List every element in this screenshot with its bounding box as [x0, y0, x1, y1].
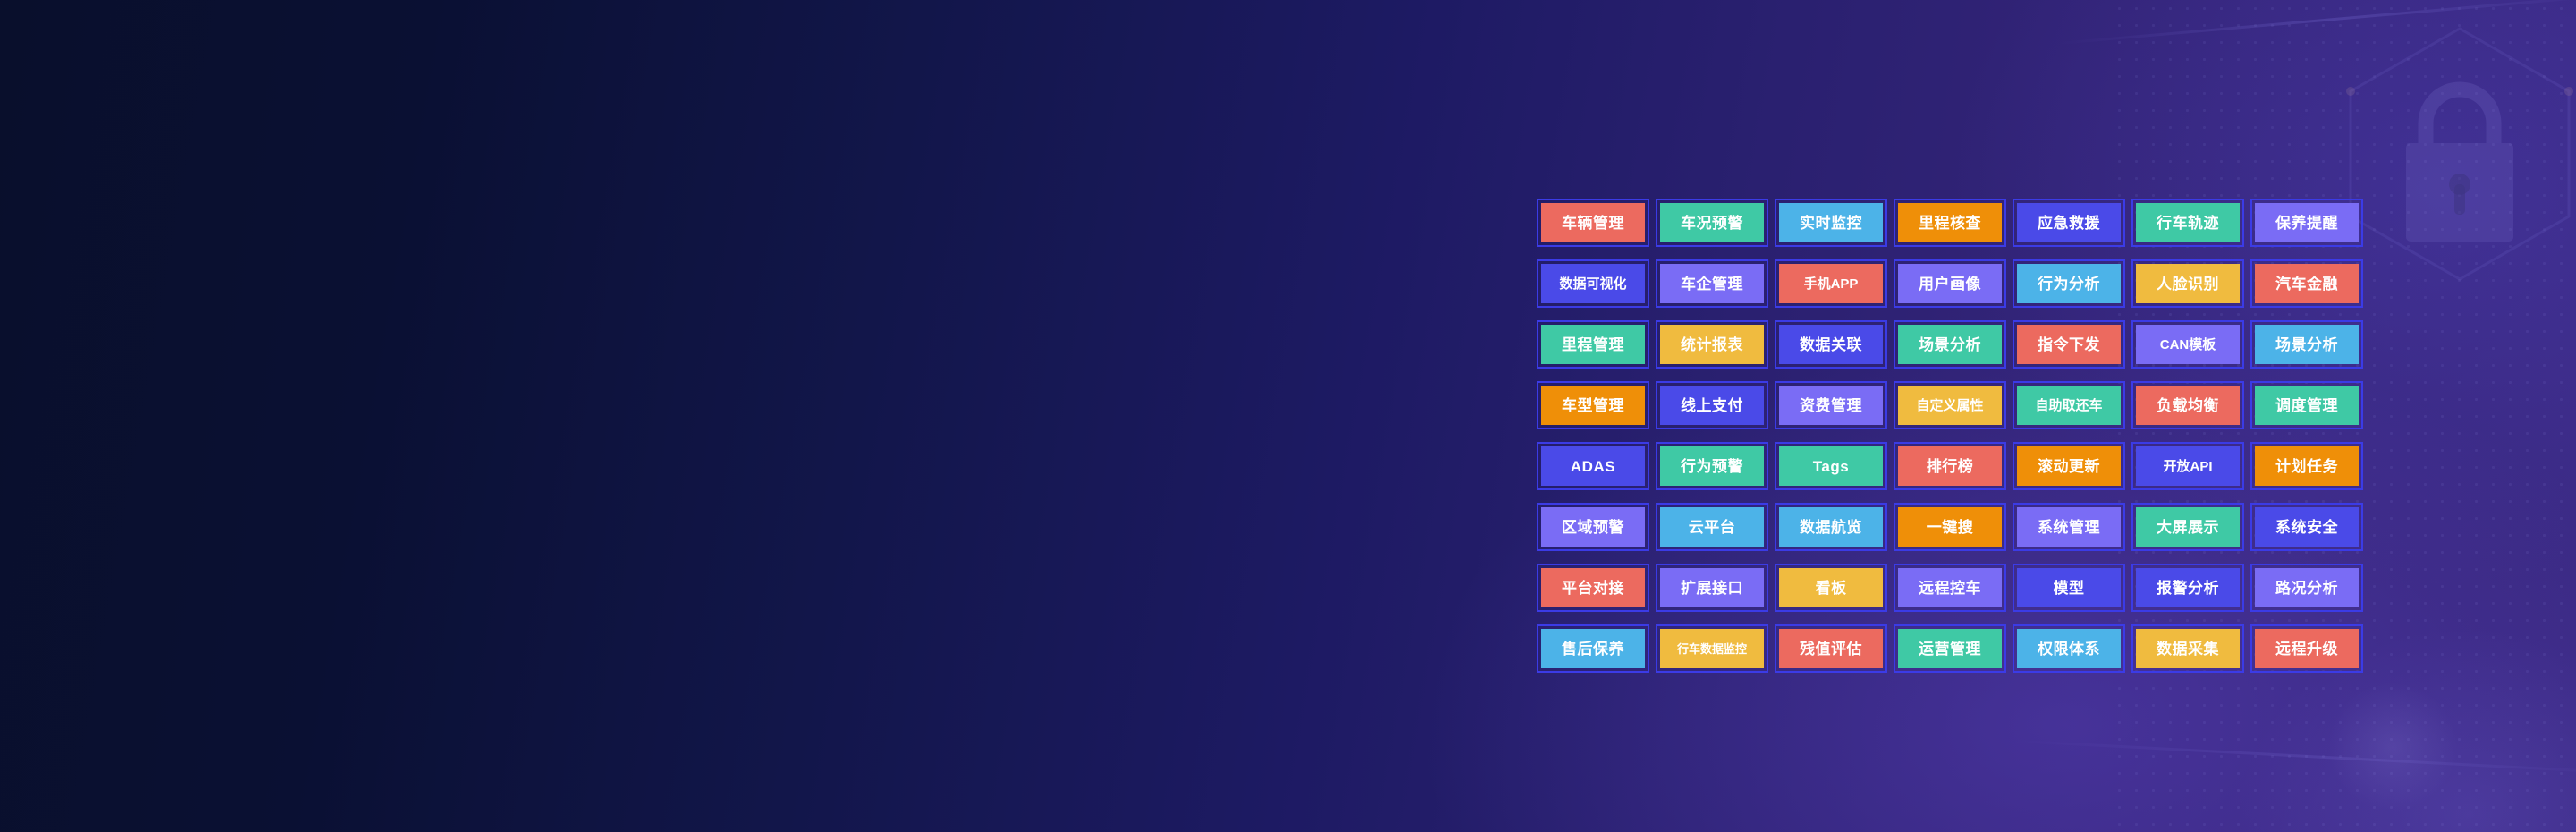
- feature-tile-fill: 一键搜: [1898, 507, 2002, 547]
- feature-tile-label: 计划任务: [2275, 459, 2338, 474]
- feature-tile-fill: 系统管理: [2017, 507, 2121, 547]
- feature-tile-label: ADAS: [1571, 459, 1615, 474]
- feature-tile-label: 行为预警: [1681, 459, 1743, 474]
- feature-tile[interactable]: 手机APP: [1775, 259, 1887, 308]
- feature-tile-label: 数据采集: [2157, 641, 2219, 657]
- feature-tile-label: 实时监控: [1800, 216, 1862, 231]
- feature-tile-label: 系统安全: [2275, 520, 2338, 535]
- feature-tile-label: 远程控车: [1919, 581, 1981, 596]
- feature-tile[interactable]: 汽车金融: [2250, 259, 2363, 308]
- feature-tile[interactable]: 系统管理: [2012, 503, 2125, 551]
- feature-tile-label: 售后保养: [1562, 641, 1624, 657]
- feature-tile-fill: 车况预警: [1660, 203, 1764, 242]
- feature-tile-label: 权限体系: [2038, 641, 2100, 657]
- feature-tile[interactable]: 自定义属性: [1894, 381, 2006, 429]
- feature-tile[interactable]: 人脸识别: [2131, 259, 2244, 308]
- feature-tile-fill: 场景分析: [2255, 325, 2359, 364]
- feature-tile[interactable]: 车企管理: [1656, 259, 1768, 308]
- feature-tile-fill: 手机APP: [1779, 264, 1883, 303]
- feature-tile-fill: 里程核查: [1898, 203, 2002, 242]
- feature-tile-label: 运营管理: [1919, 641, 1981, 657]
- feature-tile[interactable]: 保养提醒: [2250, 199, 2363, 247]
- feature-tile-fill: 开放API: [2136, 446, 2240, 486]
- feature-grid-page: 车辆管理车况预警实时监控里程核查应急救援行车轨迹保养提醒数据可视化车企管理手机A…: [0, 0, 2576, 832]
- feature-tile[interactable]: 权限体系: [2012, 624, 2125, 673]
- feature-tile-label: 数据航览: [1800, 520, 1862, 535]
- feature-tile[interactable]: 用户画像: [1894, 259, 2006, 308]
- feature-tile-label: 行车轨迹: [2157, 216, 2219, 231]
- feature-tile-label: 资费管理: [1800, 398, 1862, 413]
- feature-tile[interactable]: 路况分析: [2250, 564, 2363, 612]
- feature-tile-fill: 云平台: [1660, 507, 1764, 547]
- feature-tile-fill: 行车数据监控: [1660, 629, 1764, 668]
- feature-tile-fill: 数据航览: [1779, 507, 1883, 547]
- feature-tile[interactable]: 资费管理: [1775, 381, 1887, 429]
- feature-tile-label: 保养提醒: [2275, 216, 2338, 231]
- feature-tile-label: CAN模板: [2160, 338, 2216, 352]
- feature-tile[interactable]: 售后保养: [1537, 624, 1649, 673]
- feature-tile-fill: 汽车金融: [2255, 264, 2359, 303]
- feature-tile[interactable]: 滚动更新: [2012, 442, 2125, 490]
- feature-tile[interactable]: 区域预警: [1537, 503, 1649, 551]
- feature-tile-label: 残值评估: [1800, 641, 1862, 657]
- feature-tile-fill: 数据采集: [2136, 629, 2240, 668]
- feature-tile-label: 平台对接: [1562, 581, 1624, 596]
- feature-tile[interactable]: 负载均衡: [2131, 381, 2244, 429]
- feature-tile[interactable]: 行为预警: [1656, 442, 1768, 490]
- feature-tile[interactable]: 数据关联: [1775, 320, 1887, 369]
- feature-tile-fill: 自定义属性: [1898, 386, 2002, 425]
- feature-tile-label: 车况预警: [1681, 216, 1743, 231]
- feature-tile-label: 行为分析: [2038, 276, 2100, 292]
- feature-tile[interactable]: 线上支付: [1656, 381, 1768, 429]
- feature-tile-label: 自定义属性: [1916, 399, 1983, 412]
- feature-tile[interactable]: Tags: [1775, 442, 1887, 490]
- feature-tile-fill: Tags: [1779, 446, 1883, 486]
- feature-tile[interactable]: 云平台: [1656, 503, 1768, 551]
- feature-tile[interactable]: 车型管理: [1537, 381, 1649, 429]
- feature-tile-label: 路况分析: [2275, 581, 2338, 596]
- feature-tile-fill: 滚动更新: [2017, 446, 2121, 486]
- feature-tile[interactable]: ADAS: [1537, 442, 1649, 490]
- feature-tile-label: 应急救援: [2038, 216, 2100, 231]
- feature-tile-fill: 数据可视化: [1541, 264, 1645, 303]
- feature-tile-label: 里程管理: [1562, 337, 1624, 352]
- feature-tile[interactable]: 计划任务: [2250, 442, 2363, 490]
- feature-tile-grid: 车辆管理车况预警实时监控里程核查应急救援行车轨迹保养提醒数据可视化车企管理手机A…: [1537, 199, 2363, 673]
- feature-tile[interactable]: 数据可视化: [1537, 259, 1649, 308]
- feature-tile-fill: 系统安全: [2255, 507, 2359, 547]
- feature-tile-fill: 看板: [1779, 568, 1883, 607]
- feature-tile-label: 车辆管理: [1562, 216, 1624, 231]
- feature-tile-fill: 车企管理: [1660, 264, 1764, 303]
- feature-tile-label: 人脸识别: [2157, 276, 2219, 292]
- feature-tile-fill: 扩展接口: [1660, 568, 1764, 607]
- feature-tile-fill: 里程管理: [1541, 325, 1645, 364]
- feature-tile-label: 一键搜: [1927, 520, 1974, 535]
- feature-tile-fill: 资费管理: [1779, 386, 1883, 425]
- feature-tile-label: 系统管理: [2038, 520, 2100, 535]
- feature-tile-fill: 负载均衡: [2136, 386, 2240, 425]
- feature-tile-label: 车型管理: [1562, 398, 1624, 413]
- feature-tile-fill: 平台对接: [1541, 568, 1645, 607]
- feature-tile[interactable]: 看板: [1775, 564, 1887, 612]
- feature-tile-fill: 报警分析: [2136, 568, 2240, 607]
- feature-tile-fill: 行车轨迹: [2136, 203, 2240, 242]
- feature-tile-fill: 数据关联: [1779, 325, 1883, 364]
- feature-tile-label: 排行榜: [1927, 459, 1974, 474]
- feature-tile-label: Tags: [1813, 459, 1849, 474]
- feature-tile[interactable]: 应急救援: [2012, 199, 2125, 247]
- feature-tile-label: 报警分析: [2157, 581, 2219, 596]
- feature-tile-fill: 行为预警: [1660, 446, 1764, 486]
- feature-tile-fill: 应急救援: [2017, 203, 2121, 242]
- feature-tile-label: 线上支付: [1681, 398, 1743, 413]
- feature-tile-label: 远程升级: [2275, 641, 2338, 657]
- feature-tile-label: 模型: [2054, 581, 2085, 596]
- feature-tile-fill: 远程控车: [1898, 568, 2002, 607]
- feature-tile[interactable]: 系统安全: [2250, 503, 2363, 551]
- feature-tile-label: 统计报表: [1681, 337, 1743, 352]
- feature-tile[interactable]: 里程管理: [1537, 320, 1649, 369]
- feature-tile-fill: 场景分析: [1898, 325, 2002, 364]
- feature-tile-label: 里程核查: [1919, 216, 1981, 231]
- feature-tile-fill: 行为分析: [2017, 264, 2121, 303]
- feature-tile-fill: 线上支付: [1660, 386, 1764, 425]
- feature-tile-label: 车企管理: [1681, 276, 1743, 292]
- feature-tile[interactable]: 车况预警: [1656, 199, 1768, 247]
- feature-tile-label: 数据关联: [1800, 337, 1862, 352]
- feature-tile[interactable]: 自助取还车: [2012, 381, 2125, 429]
- feature-tile-fill: 路况分析: [2255, 568, 2359, 607]
- feature-tile-label: 滚动更新: [2038, 459, 2100, 474]
- feature-tile-label: 调度管理: [2275, 398, 2338, 413]
- feature-tile[interactable]: 统计报表: [1656, 320, 1768, 369]
- feature-tile-fill: 调度管理: [2255, 386, 2359, 425]
- feature-tile[interactable]: 残值评估: [1775, 624, 1887, 673]
- feature-tile-label: 行车数据监控: [1677, 643, 1747, 655]
- feature-tile[interactable]: 行为分析: [2012, 259, 2125, 308]
- feature-tile-label: 场景分析: [1919, 337, 1981, 352]
- feature-tile-label: 扩展接口: [1681, 581, 1743, 596]
- feature-tile[interactable]: 模型: [2012, 564, 2125, 612]
- feature-tile-fill: 运营管理: [1898, 629, 2002, 668]
- feature-tile[interactable]: 排行榜: [1894, 442, 2006, 490]
- feature-tile-label: 用户画像: [1919, 276, 1981, 292]
- feature-tile[interactable]: 运营管理: [1894, 624, 2006, 673]
- feature-tile-fill: 保养提醒: [2255, 203, 2359, 242]
- feature-tile[interactable]: 一键搜: [1894, 503, 2006, 551]
- feature-tile[interactable]: 里程核查: [1894, 199, 2006, 247]
- feature-tile[interactable]: 大屏展示: [2131, 503, 2244, 551]
- feature-tile-fill: 车型管理: [1541, 386, 1645, 425]
- feature-tile[interactable]: 报警分析: [2131, 564, 2244, 612]
- feature-tile-label: 数据可视化: [1559, 277, 1626, 291]
- feature-tile-fill: 用户画像: [1898, 264, 2002, 303]
- feature-tile[interactable]: 行车轨迹: [2131, 199, 2244, 247]
- feature-tile[interactable]: 调度管理: [2250, 381, 2363, 429]
- padlock-hexagon-icon: [2326, 18, 2576, 286]
- feature-tile[interactable]: 扩展接口: [1656, 564, 1768, 612]
- feature-tile[interactable]: 数据采集: [2131, 624, 2244, 673]
- feature-tile[interactable]: 数据航览: [1775, 503, 1887, 551]
- feature-tile-label: 大屏展示: [2157, 520, 2219, 535]
- feature-tile-label: 云平台: [1689, 520, 1736, 535]
- feature-tile[interactable]: 场景分析: [2250, 320, 2363, 369]
- feature-tile-label: 场景分析: [2275, 337, 2338, 352]
- feature-tile[interactable]: 远程升级: [2250, 624, 2363, 673]
- feature-tile[interactable]: 远程控车: [1894, 564, 2006, 612]
- feature-tile[interactable]: 实时监控: [1775, 199, 1887, 247]
- feature-tile-fill: 自助取还车: [2017, 386, 2121, 425]
- feature-tile-fill: ADAS: [1541, 446, 1645, 486]
- feature-tile-label: 手机APP: [1804, 277, 1859, 291]
- feature-tile-fill: 统计报表: [1660, 325, 1764, 364]
- feature-tile-fill: 排行榜: [1898, 446, 2002, 486]
- feature-tile-fill: 指令下发: [2017, 325, 2121, 364]
- feature-tile-fill: 大屏展示: [2136, 507, 2240, 547]
- feature-tile[interactable]: 车辆管理: [1537, 199, 1649, 247]
- feature-tile[interactable]: 行车数据监控: [1656, 624, 1768, 673]
- feature-tile-label: 指令下发: [2038, 337, 2100, 352]
- feature-tile-label: 汽车金融: [2275, 276, 2338, 292]
- feature-tile-fill: CAN模板: [2136, 325, 2240, 364]
- feature-tile-label: 负载均衡: [2157, 398, 2219, 413]
- feature-tile-label: 看板: [1816, 581, 1847, 596]
- feature-tile-fill: 权限体系: [2017, 629, 2121, 668]
- feature-tile-fill: 人脸识别: [2136, 264, 2240, 303]
- feature-tile-fill: 计划任务: [2255, 446, 2359, 486]
- feature-tile-label: 开放API: [2163, 460, 2212, 473]
- feature-tile[interactable]: 开放API: [2131, 442, 2244, 490]
- feature-tile-label: 自助取还车: [2035, 399, 2102, 412]
- feature-tile-fill: 远程升级: [2255, 629, 2359, 668]
- feature-tile[interactable]: CAN模板: [2131, 320, 2244, 369]
- feature-tile-fill: 车辆管理: [1541, 203, 1645, 242]
- feature-tile-label: 区域预警: [1562, 520, 1624, 535]
- feature-tile[interactable]: 指令下发: [2012, 320, 2125, 369]
- feature-tile[interactable]: 平台对接: [1537, 564, 1649, 612]
- feature-tile-fill: 残值评估: [1779, 629, 1883, 668]
- feature-tile[interactable]: 场景分析: [1894, 320, 2006, 369]
- feature-tile-fill: 区域预警: [1541, 507, 1645, 547]
- feature-tile-fill: 售后保养: [1541, 629, 1645, 668]
- feature-tile-fill: 模型: [2017, 568, 2121, 607]
- feature-tile-fill: 实时监控: [1779, 203, 1883, 242]
